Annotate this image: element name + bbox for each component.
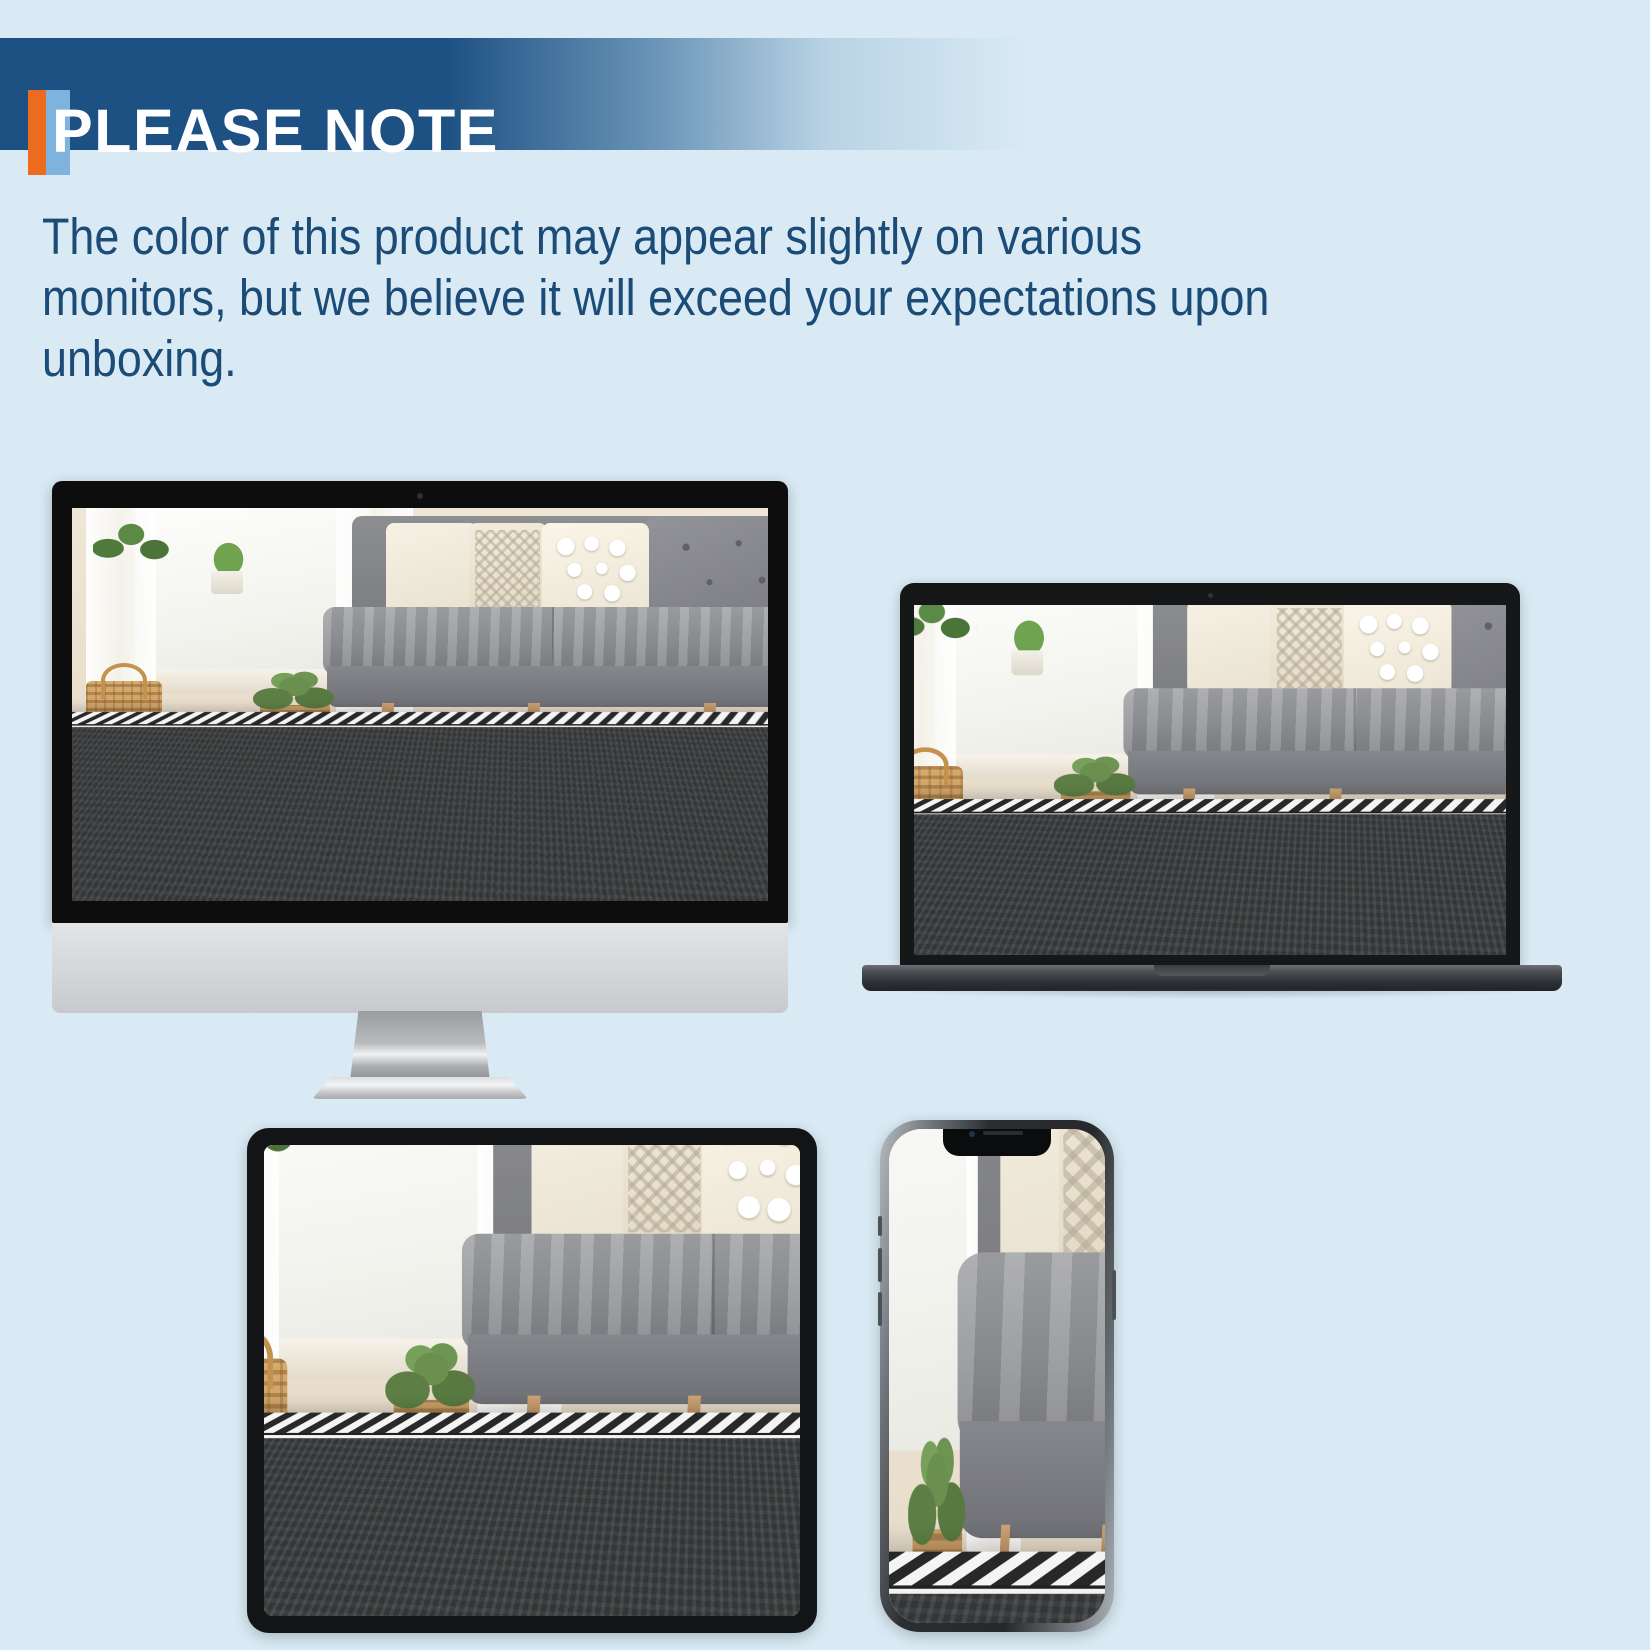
palm-plant <box>93 508 177 571</box>
orange-accent-bar <box>28 90 46 175</box>
laptop-lid <box>900 583 1520 967</box>
laptop <box>862 583 1562 1008</box>
please-note-banner: PLEASE NOTE <box>0 38 1060 150</box>
monitor-stand-base <box>312 1077 528 1099</box>
seat-cushion-seam <box>712 1233 715 1349</box>
front-camera-icon <box>969 1131 975 1137</box>
window-sill-pot <box>1012 650 1043 675</box>
sofa-seat-cushions <box>1124 688 1506 760</box>
sofa-seat-cushions <box>323 607 768 675</box>
power-button[interactable] <box>1112 1270 1116 1320</box>
area-rug <box>914 799 1506 955</box>
volume-up-button[interactable] <box>878 1248 882 1282</box>
living-room-scene <box>889 1129 1105 1623</box>
knit-pillow <box>1270 605 1348 696</box>
sofa-seat-cushions <box>957 1253 1105 1446</box>
monitor-stand-neck <box>350 1011 490 1081</box>
knit-pillow <box>469 523 547 614</box>
palm-plant <box>914 605 977 650</box>
rug-field <box>889 1594 1105 1623</box>
green-plant <box>908 1418 966 1551</box>
monitor-bezel <box>52 481 788 923</box>
cream-pillow-1 <box>1187 605 1280 696</box>
banner-title: PLEASE NOTE <box>52 86 499 176</box>
laptop-screen <box>914 605 1506 955</box>
cream-pillow-1 <box>531 1145 632 1245</box>
laptop-shadow <box>872 989 1552 999</box>
knit-pillow <box>1059 1129 1105 1273</box>
palm-plant <box>264 1145 302 1172</box>
area-rug <box>889 1551 1105 1623</box>
volume-down-button[interactable] <box>878 1292 882 1326</box>
green-plant <box>1054 750 1138 800</box>
basket-handle <box>101 663 147 698</box>
cream-pillow-1 <box>386 523 479 614</box>
webcam-icon <box>417 493 423 499</box>
pom-pom-pillow <box>542 523 649 614</box>
phone-screen <box>889 1129 1105 1623</box>
living-room-scene <box>264 1145 800 1616</box>
living-room-scene <box>914 605 1506 955</box>
green-plant <box>386 1332 477 1412</box>
area-rug <box>264 1413 800 1616</box>
sofa-apron <box>1128 751 1506 794</box>
area-rug <box>72 712 768 901</box>
rug-field <box>914 815 1506 955</box>
rug-field <box>264 1438 800 1616</box>
silent-switch[interactable] <box>878 1216 882 1236</box>
sofa-apron <box>327 666 768 707</box>
sofa <box>1124 605 1506 832</box>
webcam-icon <box>1208 593 1213 598</box>
sofa-apron <box>467 1334 800 1404</box>
seat-cushion-seam <box>552 607 554 675</box>
window-sill-pot <box>211 571 242 595</box>
rug-field <box>72 727 768 901</box>
pom-pom-pillow <box>702 1145 800 1245</box>
desktop-monitor <box>52 481 788 1106</box>
laptop-front-notch <box>1154 965 1270 976</box>
sofa-seat-cushions <box>462 1233 800 1349</box>
monitor-chin <box>52 923 788 1013</box>
monitor-screen <box>72 508 768 901</box>
seat-cushion-seam <box>1353 688 1355 760</box>
tablet <box>247 1128 817 1633</box>
pom-pom-pillow <box>1344 605 1452 696</box>
tablet-body <box>247 1128 817 1633</box>
note-paragraph: The color of this product may appear sli… <box>42 206 1292 389</box>
tablet-screen <box>264 1145 800 1616</box>
phone-frame <box>880 1120 1114 1632</box>
smartphone <box>880 1120 1114 1632</box>
sofa-apron <box>960 1421 1105 1537</box>
knit-pillow <box>622 1145 707 1245</box>
green-plant <box>253 665 337 712</box>
sofa <box>323 516 768 744</box>
earpiece-speaker-icon <box>983 1131 1023 1135</box>
sofa <box>957 1129 1105 1623</box>
living-room-scene <box>72 508 768 901</box>
